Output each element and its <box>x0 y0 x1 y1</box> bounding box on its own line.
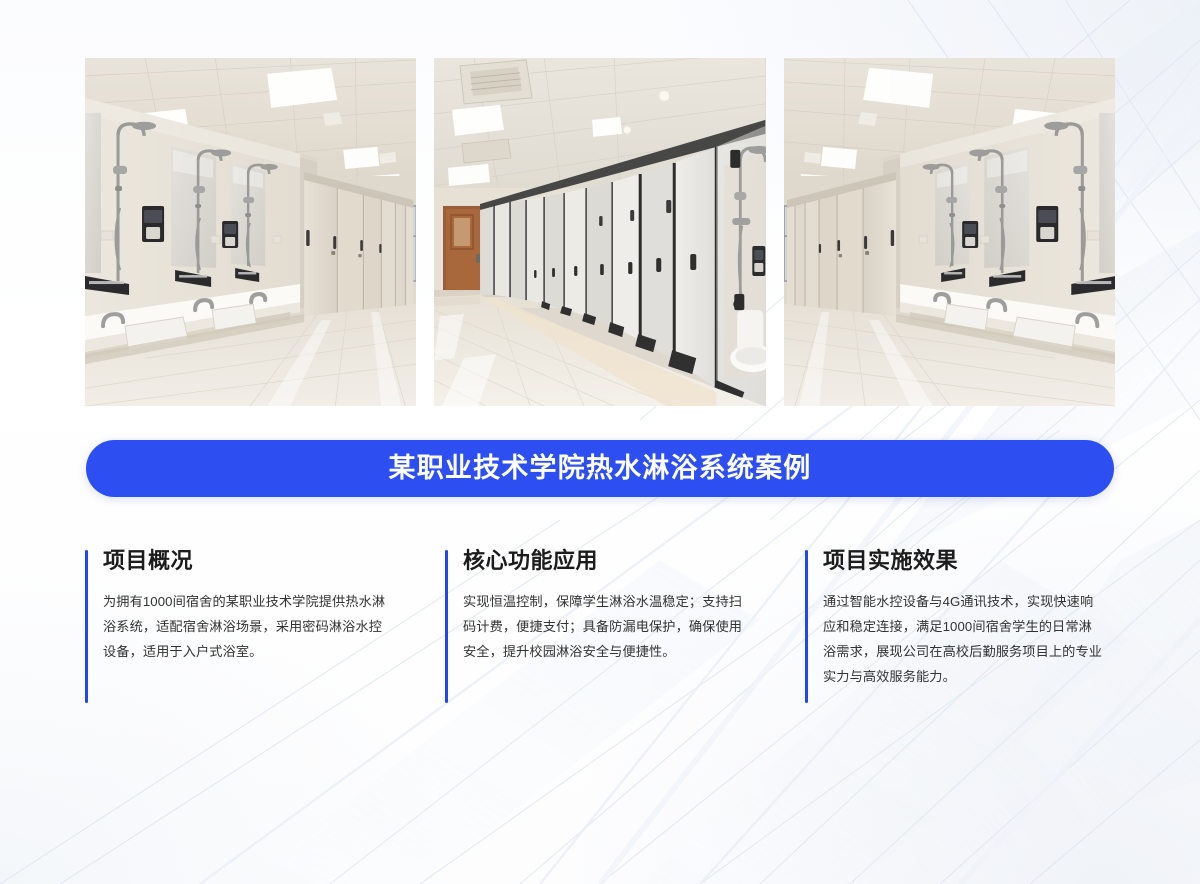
column-heading: 项目概况 <box>103 549 395 573</box>
info-columns: 项目概况 为拥有1000间宿舍的某职业技术学院提供热水淋浴系统，适配宿舍淋浴场景… <box>85 549 1115 704</box>
info-column-implementation-results: 项目实施效果 通过智能水控设备与4G通讯技术，实现快速响应和稳定连接，满足100… <box>805 549 1115 704</box>
case-title-text: 某职业技术学院热水淋浴系统案例 <box>389 455 812 482</box>
info-column-core-functions: 核心功能应用 实现恒温控制，保障学生淋浴水温稳定；支持扫码计费，便捷支付；具备防… <box>445 549 755 704</box>
case-study-page: 某职业技术学院热水淋浴系统案例 项目概况 为拥有1000间宿舍的某职业技术学院提… <box>0 0 1200 884</box>
column-accent-bar <box>85 550 88 703</box>
column-body-text: 通过智能水控设备与4G通讯技术，实现快速响应和稳定连接，满足1000间宿舍学生的… <box>823 589 1105 689</box>
column-accent-bar <box>445 550 448 703</box>
gallery-image-shower-room-sinks-left[interactable] <box>85 58 416 406</box>
info-column-project-overview: 项目概况 为拥有1000间宿舍的某职业技术学院提供热水淋浴系统，适配宿舍淋浴场景… <box>85 549 395 704</box>
gallery-image-shower-room-sinks-right[interactable] <box>784 58 1115 406</box>
project-photo-gallery <box>85 58 1115 406</box>
column-body-text: 实现恒温控制，保障学生淋浴水温稳定；支持扫码计费，便捷支付；具备防漏电保护，确保… <box>463 589 745 664</box>
column-heading: 项目实施效果 <box>823 549 1115 573</box>
gallery-image-shower-stalls-corridor[interactable] <box>434 58 765 406</box>
column-heading: 核心功能应用 <box>463 549 755 573</box>
case-title-banner: 某职业技术学院热水淋浴系统案例 <box>86 440 1114 497</box>
column-body-text: 为拥有1000间宿舍的某职业技术学院提供热水淋浴系统，适配宿舍淋浴场景，采用密码… <box>103 589 395 664</box>
column-accent-bar <box>805 550 808 703</box>
